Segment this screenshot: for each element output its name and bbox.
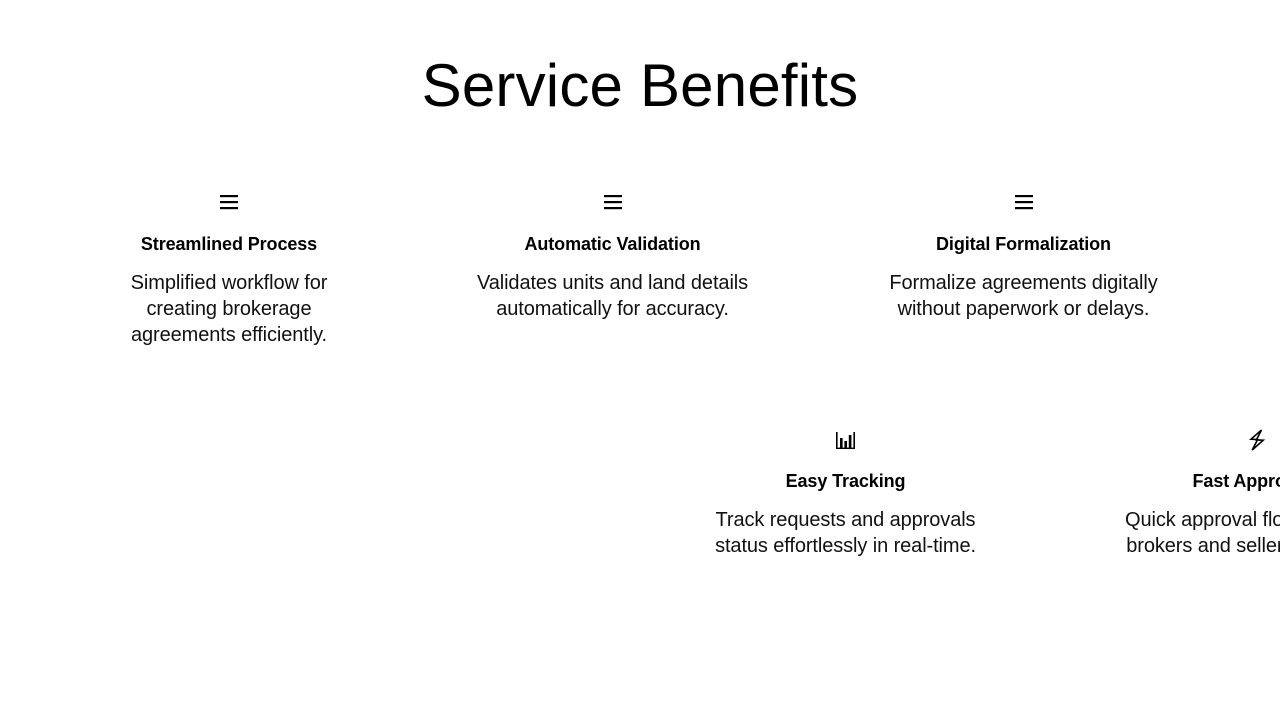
benefit-description: Formalize agreements digitally without p…	[869, 270, 1179, 322]
benefit-heading: Streamlined Process	[141, 232, 317, 256]
benefit-card-fast-approvals: Fast Approvals Quick approval flows betw…	[1092, 425, 1280, 559]
list-lines-icon	[604, 188, 622, 218]
page-title: Service Benefits	[0, 48, 1280, 124]
slide-canvas: Service Benefits Streamlined Process Sim…	[0, 0, 1280, 720]
benefit-description: Track requests and approvals status effo…	[691, 507, 1001, 559]
list-lines-icon	[220, 188, 238, 218]
benefit-heading: Fast Approvals	[1193, 469, 1280, 493]
benefits-row-bottom: Easy Tracking Track requests and approva…	[0, 425, 1280, 559]
benefit-description: Simplified workflow for creating brokera…	[112, 270, 347, 348]
list-lines-icon	[1015, 188, 1033, 218]
benefit-heading: Easy Tracking	[786, 469, 906, 493]
benefit-description: Validates units and land details automat…	[458, 270, 768, 322]
benefit-card-easy-tracking: Easy Tracking Track requests and approva…	[681, 425, 1011, 559]
benefit-card-automatic-validation: Automatic Validation Validates units and…	[448, 188, 778, 322]
benefit-heading: Automatic Validation	[524, 232, 700, 256]
bar-chart-icon	[835, 425, 857, 455]
benefit-card-streamlined-process: Streamlined Process Simplified workflow …	[92, 188, 367, 348]
lightning-bolt-icon	[1247, 425, 1267, 455]
benefits-row-top: Streamlined Process Simplified workflow …	[0, 188, 1280, 348]
benefit-heading: Digital Formalization	[936, 232, 1111, 256]
benefit-card-digital-formalization: Digital Formalization Formalize agreemen…	[859, 188, 1189, 322]
benefit-description: Quick approval flows between brokers and…	[1102, 507, 1280, 559]
